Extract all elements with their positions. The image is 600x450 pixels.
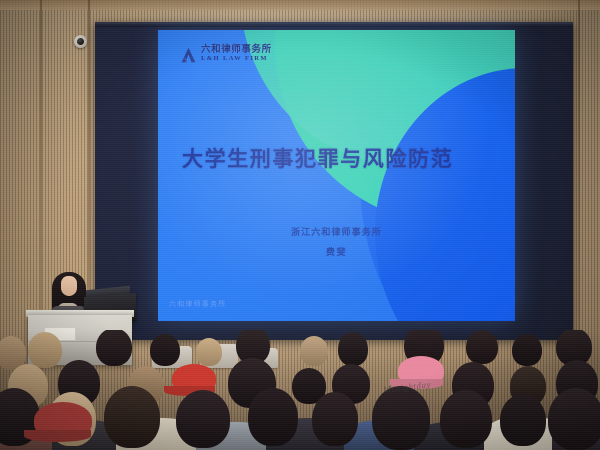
slide-subtitle-block: 浙江六和律师事务所 费斐 xyxy=(158,225,515,258)
audience-head xyxy=(512,334,542,366)
audience-head xyxy=(548,388,600,450)
audience-head xyxy=(96,330,132,366)
slide-subtitle-org: 浙江六和律师事务所 xyxy=(158,225,515,238)
audience-head xyxy=(28,332,62,368)
audience-head xyxy=(104,386,160,448)
presentation-slide: 六和律师事务所 L&H LAW FIRM 大学生刑事犯罪与风险防范 浙江六和律师… xyxy=(158,30,515,321)
lecture-hall-photo: 六和律师事务所 L&H LAW FIRM 大学生刑事犯罪与风险防范 浙江六和律师… xyxy=(0,0,600,450)
audience-cap-red-front xyxy=(34,402,92,438)
audience-head xyxy=(196,338,222,366)
audience-head xyxy=(372,386,430,450)
ceiling-camera-icon xyxy=(74,35,87,48)
mountain-logo-icon xyxy=(180,47,197,64)
audience-cap-red xyxy=(172,364,216,392)
logo-chinese-text: 六和律师事务所 xyxy=(201,45,272,55)
logo-english-text: L&H LAW FIRM xyxy=(201,56,272,63)
slide-watermark: 六和律师事务所 xyxy=(169,299,226,309)
audience-head xyxy=(150,334,180,366)
projection-screen: 六和律师事务所 L&H LAW FIRM 大学生刑事犯罪与风险防范 浙江六和律师… xyxy=(95,22,573,340)
speaker-face xyxy=(61,276,77,296)
slide-title: 大学生刑事犯罪与风险防范 xyxy=(182,143,492,173)
audience-head xyxy=(312,392,358,446)
audience-head xyxy=(300,336,328,366)
audience: Mynightday xyxy=(0,330,600,450)
audience-head xyxy=(500,394,546,446)
slide-subtitle-name: 费斐 xyxy=(158,245,515,258)
ceiling-edge xyxy=(0,0,600,10)
audience-head xyxy=(248,388,298,446)
audience-head xyxy=(338,332,368,366)
audience-head xyxy=(440,390,492,448)
logo-text-block: 六和律师事务所 L&H LAW FIRM xyxy=(201,45,272,63)
law-firm-logo: 六和律师事务所 L&H LAW FIRM xyxy=(180,45,272,64)
audience-head xyxy=(466,330,498,364)
audience-head xyxy=(176,390,230,448)
